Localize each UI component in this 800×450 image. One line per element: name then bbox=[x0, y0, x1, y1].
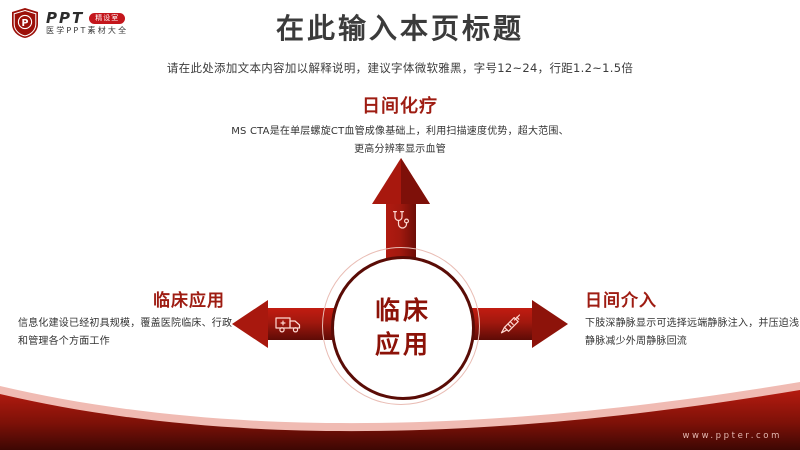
footer-decoration: www.ppter.com bbox=[0, 380, 800, 450]
section-top-heading: 日间化疗 bbox=[230, 92, 570, 118]
center-label-line1: 临床 bbox=[375, 294, 431, 328]
section-left-body: 信息化建设已经初具规模，覆盖医院临床、行政和管理各个方面工作 bbox=[18, 315, 233, 351]
arrow-left-head bbox=[232, 300, 268, 348]
page-title: 在此输入本页标题 bbox=[0, 12, 800, 46]
footer-url: www.ppter.com bbox=[682, 431, 782, 441]
page-subtitle: 请在此处添加文本内容加以解释说明，建议字体微软雅黑，字号12~24，行距1.2~… bbox=[0, 60, 800, 76]
center-label-line2: 应用 bbox=[375, 328, 431, 362]
stethoscope-icon bbox=[386, 206, 416, 236]
arrow-right-head bbox=[532, 300, 568, 348]
arrow-up-head-shadow bbox=[401, 158, 430, 204]
section-left: 临床应用 信息化建设已经初具规模，覆盖医院临床、行政和管理各个方面工作 bbox=[18, 286, 233, 351]
center-circle[interactable]: 临床 应用 bbox=[331, 256, 475, 400]
section-left-heading: 临床应用 bbox=[18, 286, 233, 311]
slide-canvas: P PPT 精设室 医学PPT素材大全 在此输入本页标题 请在此处添加文本内容加… bbox=[0, 0, 800, 450]
section-top-body: MS CTA是在单层螺旋CT血管成像基础上，利用扫描速度优势，超大范围、更高分辨… bbox=[230, 123, 570, 158]
section-right: 日间介入 下肢深静脉显示可选择远端静脉注入，并压迫浅静脉减少外周静脉回流 bbox=[585, 286, 800, 351]
section-right-heading: 日间介入 bbox=[585, 286, 800, 311]
ambulance-icon bbox=[272, 310, 306, 338]
section-top: 日间化疗 MS CTA是在单层螺旋CT血管成像基础上，利用扫描速度优势，超大范围… bbox=[230, 92, 570, 158]
section-right-body: 下肢深静脉显示可选择远端静脉注入，并压迫浅静脉减少外周静脉回流 bbox=[585, 315, 800, 351]
syringe-icon bbox=[494, 310, 528, 338]
